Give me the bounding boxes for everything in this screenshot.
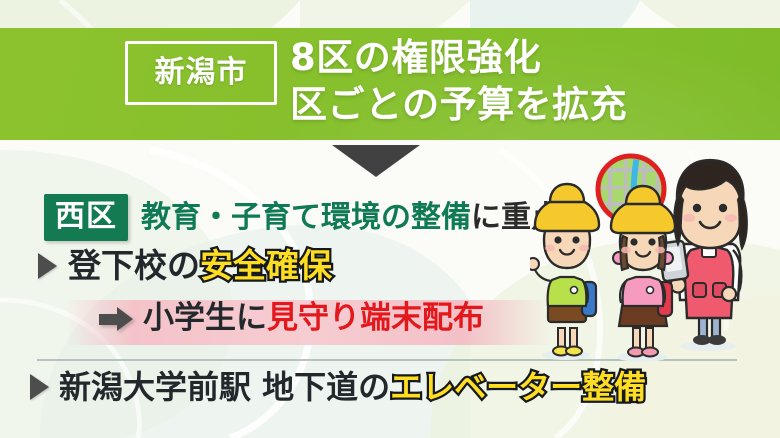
list-item-safety-highlight: 安全確保 [200, 246, 332, 285]
headline: 8区の権限強化 区ごとの予算を拡充 [290, 34, 760, 129]
triangle-right-icon [38, 253, 57, 279]
illustration-group [530, 150, 780, 365]
city-label-box: 新潟市 [125, 41, 277, 105]
news-graphic: 新潟市 8区の権限強化 区ごとの予算を拡充 西区 教育・子育て環境の整備に重点 … [0, 0, 780, 438]
list-item-tablet-text: 小学生に見守り端末配布 [143, 303, 484, 334]
list-item-safety-text: 登下校の安全確保 [68, 249, 332, 282]
list-item-tablet-highlight: 見守り端末配布 [267, 300, 484, 336]
headline-line-1: 8区の権限強化 [290, 34, 760, 81]
list-item-tablet: 小学生に見守り端末配布 [99, 303, 484, 334]
ward-headline-text: 教育・子育て環境の整備に重点 [141, 203, 561, 233]
ward-headline-row: 西区 教育・子育て環境の整備に重点 [44, 194, 561, 241]
headline-line-2: 区ごとの予算を拡充 [290, 81, 760, 128]
ward-emphasis-text: 教育・子育て環境の整備 [141, 200, 471, 235]
list-item-elevator: 新潟大学前駅 地下道のエレベーター整備 [30, 371, 646, 403]
list-item-elevator-prefix: 新潟大学前駅 地下道の [59, 368, 390, 406]
schoolboy-illustration [530, 184, 599, 360]
list-item-safety: 登下校の安全確保 [38, 249, 332, 282]
list-item-elevator-text: 新潟大学前駅 地下道のエレベーター整備 [59, 371, 646, 403]
triangle-right-icon [30, 374, 49, 400]
arrow-right-icon [99, 307, 133, 331]
list-item-safety-prefix: 登下校の [68, 246, 200, 285]
city-label: 新潟市 [155, 58, 248, 88]
down-arrow-icon [332, 145, 420, 177]
ward-badge: 西区 [44, 194, 128, 241]
list-item-elevator-highlight: エレベーター整備 [390, 368, 646, 406]
list-item-tablet-prefix: 小学生に [143, 300, 267, 336]
